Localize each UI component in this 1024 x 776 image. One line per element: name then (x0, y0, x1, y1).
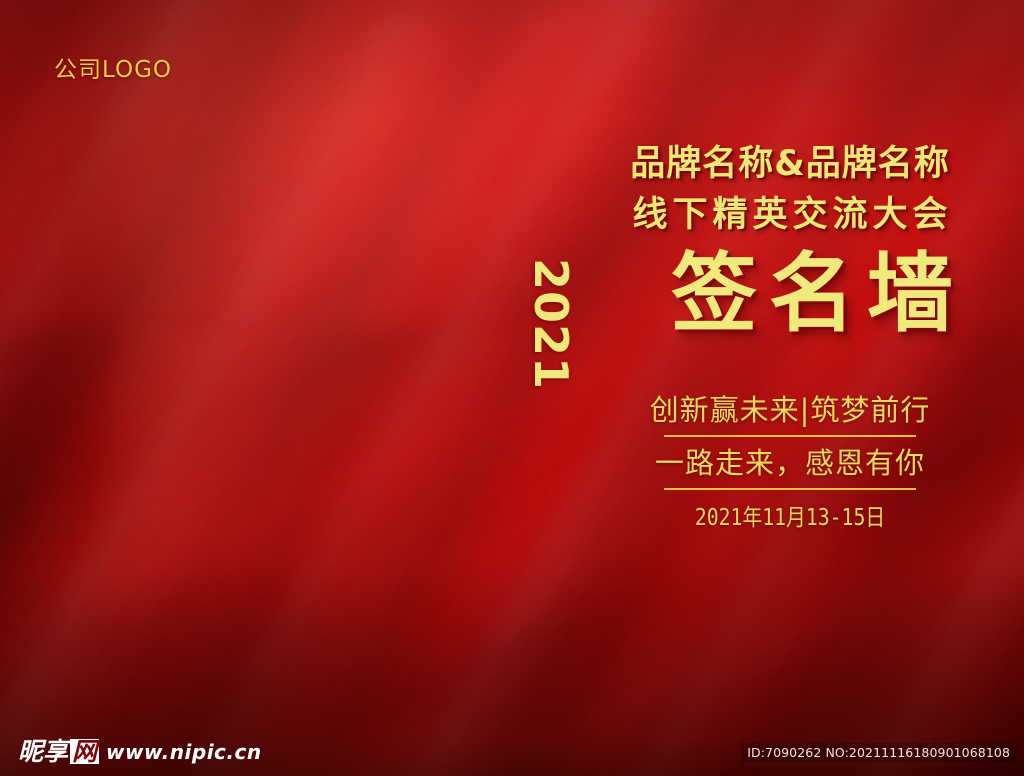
event-date-text: 2021年11月13-15日 (592, 498, 988, 532)
slogan-divider-bottom (664, 488, 916, 490)
nipic-wordmark: 昵享网 (18, 739, 99, 764)
main-title-text: 签名墙 (622, 244, 1002, 344)
title-year-vertical: 2021 (524, 258, 578, 390)
main-title-row: 2021 签名墙 (560, 244, 1020, 364)
poster-content: 公司LOGO 品牌名称&品牌名称 线下精英交流大会 2021 签名墙 创新赢未来… (0, 0, 1024, 776)
company-logo-text: 公司LOGO (54, 50, 172, 84)
slogan-block: 创新赢未来|筑梦前行 一路走来，感恩有你 2021年11月13-15日 (560, 392, 1020, 532)
nipic-site-url: www.nipic.cn (106, 742, 262, 762)
nipic-wordmark-text: 昵享 (18, 737, 68, 766)
brand-name-line: 品牌名称&品牌名称 (560, 146, 1020, 183)
nipic-wordmark-boxed-glyph: 网 (70, 739, 99, 764)
conference-name-line: 线下精英交流大会 (560, 197, 1020, 234)
nipic-logo[interactable]: 昵享网 www.nipic.cn (18, 739, 262, 764)
asset-id-label: ID:7090262 NO:20211116180901068108 (741, 743, 1016, 762)
watermark-bar: 昵享网 www.nipic.cn ID:7090262 NO:202111161… (0, 718, 1024, 776)
slogan-line-2: 一路走来，感恩有你 (560, 445, 1020, 482)
signature-wall-poster: 公司LOGO 品牌名称&品牌名称 线下精英交流大会 2021 签名墙 创新赢未来… (0, 0, 1024, 776)
headline-block: 品牌名称&品牌名称 线下精英交流大会 2021 签名墙 (560, 146, 1020, 364)
slogan-line-1: 创新赢未来|筑梦前行 (560, 392, 1020, 429)
slogan-divider-top (664, 435, 916, 437)
